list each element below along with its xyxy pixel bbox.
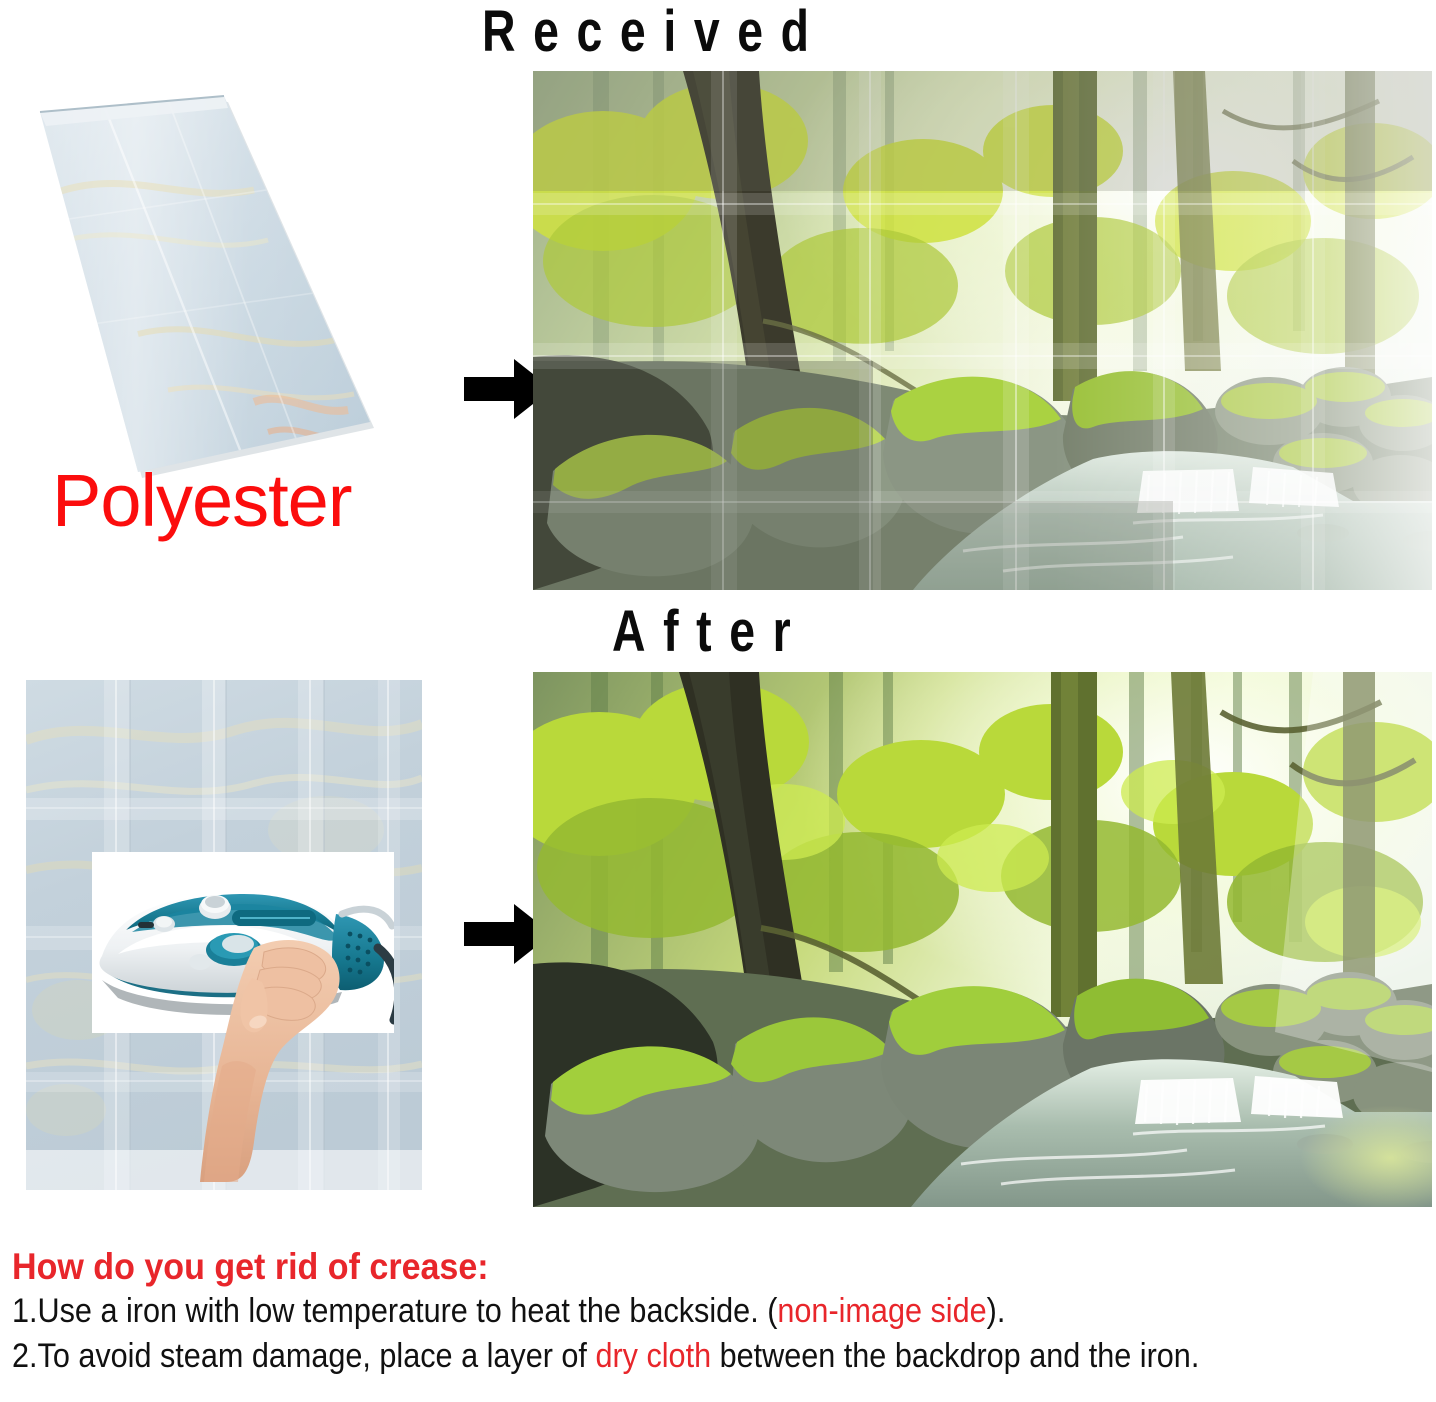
section-title-after: After (612, 598, 808, 665)
section-title-received: Received (482, 0, 827, 65)
instruction-2-highlight: dry cloth (595, 1337, 711, 1375)
received-backdrop-photo (533, 71, 1432, 590)
instruction-2-part-a: 2.To avoid steam damage, place a layer o… (12, 1337, 595, 1375)
instruction-1-highlight: non-image side (777, 1292, 986, 1330)
instruction-1-part-a: 1.Use a iron with low temperature to hea… (12, 1292, 777, 1330)
iron-photo-card (92, 852, 394, 1033)
instructions-block: How do you get rid of crease: 1.Use a ir… (12, 1248, 1436, 1378)
polyester-label: Polyester (52, 458, 351, 543)
instruction-1-part-c: ). (987, 1292, 1006, 1330)
instructions-heading: How do you get rid of crease: (12, 1248, 1322, 1287)
folded-fabric-image (18, 72, 438, 492)
infographic-canvas: Received (0, 0, 1436, 1402)
instruction-line-1: 1.Use a iron with low temperature to hea… (12, 1291, 1294, 1332)
after-backdrop-photo (533, 672, 1432, 1207)
instruction-line-2: 2.To avoid steam damage, place a layer o… (12, 1336, 1294, 1377)
instruction-2-part-c: between the backdrop and the iron. (711, 1337, 1199, 1375)
